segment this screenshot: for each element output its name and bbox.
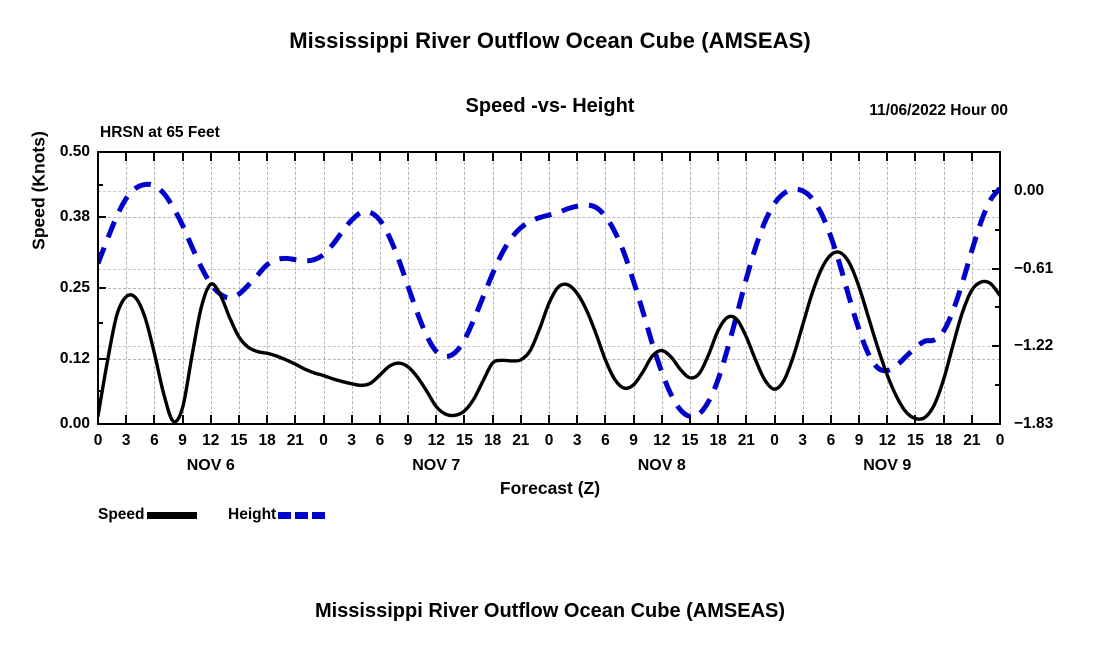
y-axis-tick-label-right: −1.22 bbox=[1014, 337, 1074, 355]
y-axis-tick-label-left: 0.25 bbox=[38, 279, 90, 297]
y-axis-title-left: Speed (Knots) bbox=[29, 76, 50, 306]
x-axis-tick-label: 6 bbox=[139, 432, 169, 450]
x-axis-tick-label: 0 bbox=[985, 432, 1015, 450]
plot-area bbox=[98, 152, 1000, 424]
page-title-bottom: Mississippi River Outflow Ocean Cube (AM… bbox=[0, 600, 1100, 623]
x-axis-title: Forecast (Z) bbox=[0, 478, 1100, 499]
x-axis-tick-label: 18 bbox=[252, 432, 282, 450]
page-title-top: Mississippi River Outflow Ocean Cube (AM… bbox=[0, 28, 1100, 54]
chart-page: Mississippi River Outflow Ocean Cube (AM… bbox=[0, 0, 1100, 650]
x-axis-tick-label: 18 bbox=[478, 432, 508, 450]
legend-label: Speed bbox=[98, 506, 145, 524]
model-run-label: 11/06/2022 Hour 00 bbox=[869, 102, 1008, 120]
x-axis-tick-label: 0 bbox=[760, 432, 790, 450]
station-depth-label: HRSN at 65 Feet bbox=[100, 120, 247, 145]
plot-frame-right bbox=[999, 151, 1001, 425]
x-axis-tick-label: 21 bbox=[731, 432, 761, 450]
plot-frame-left bbox=[97, 151, 99, 425]
x-axis-tick-label: 18 bbox=[703, 432, 733, 450]
y-axis-tick-label-right: −0.61 bbox=[1014, 260, 1074, 278]
x-axis-tick-label: 3 bbox=[788, 432, 818, 450]
data-curves bbox=[98, 152, 1000, 424]
x-axis-tick-label: 0 bbox=[83, 432, 113, 450]
x-axis-tick-label: 3 bbox=[337, 432, 367, 450]
x-axis-tick-label: 9 bbox=[844, 432, 874, 450]
legend-item: Height bbox=[228, 506, 328, 524]
x-axis-tick-label: 6 bbox=[365, 432, 395, 450]
x-axis-tick-label: 21 bbox=[506, 432, 536, 450]
x-axis-day-label: NOV 6 bbox=[156, 457, 266, 475]
x-axis-tick-label: 21 bbox=[957, 432, 987, 450]
x-axis-day-label: NOV 7 bbox=[381, 457, 491, 475]
x-axis-tick-label: 12 bbox=[872, 432, 902, 450]
x-axis-tick-label: 21 bbox=[280, 432, 310, 450]
x-axis-tick-label: 3 bbox=[562, 432, 592, 450]
x-axis-tick-label: 15 bbox=[449, 432, 479, 450]
y-axis-tick-label-right: 0.00 bbox=[1014, 182, 1074, 200]
legend-swatch-speed bbox=[147, 512, 197, 519]
x-axis-tick-label: 12 bbox=[196, 432, 226, 450]
x-axis-tick-label: 0 bbox=[534, 432, 564, 450]
x-axis-tick-label: 18 bbox=[929, 432, 959, 450]
x-axis-day-label: NOV 8 bbox=[607, 457, 717, 475]
x-axis-tick-label: 9 bbox=[393, 432, 423, 450]
legend-label: Height bbox=[228, 506, 276, 524]
y-axis-tick-label-left: 0.50 bbox=[38, 143, 90, 161]
x-axis-tick-label: 12 bbox=[647, 432, 677, 450]
y-axis-tick-label-left: 0.12 bbox=[38, 350, 90, 368]
y-axis-tick-label-right: −1.83 bbox=[1014, 415, 1074, 433]
x-axis-tick-label: 15 bbox=[675, 432, 705, 450]
x-axis-tick-label: 15 bbox=[224, 432, 254, 450]
x-axis-tick-label: 6 bbox=[590, 432, 620, 450]
x-axis-tick-label: 0 bbox=[309, 432, 339, 450]
legend-swatch-height bbox=[278, 512, 328, 519]
x-axis-tick-label: 6 bbox=[816, 432, 846, 450]
plot-frame-bottom bbox=[97, 423, 1001, 425]
speed-series-line bbox=[98, 252, 1000, 422]
legend-item: Speed bbox=[98, 506, 197, 524]
plot-frame-top bbox=[97, 151, 1001, 153]
x-axis-tick-label: 12 bbox=[421, 432, 451, 450]
y-axis-tick-label-left: 0.00 bbox=[38, 415, 90, 433]
y-axis-tick-label-left: 0.38 bbox=[38, 208, 90, 226]
x-axis-tick-label: 9 bbox=[619, 432, 649, 450]
x-axis-tick-label: 9 bbox=[168, 432, 198, 450]
x-axis-tick-label: 15 bbox=[900, 432, 930, 450]
x-axis-day-label: NOV 9 bbox=[832, 457, 942, 475]
x-axis-tick-label: 3 bbox=[111, 432, 141, 450]
